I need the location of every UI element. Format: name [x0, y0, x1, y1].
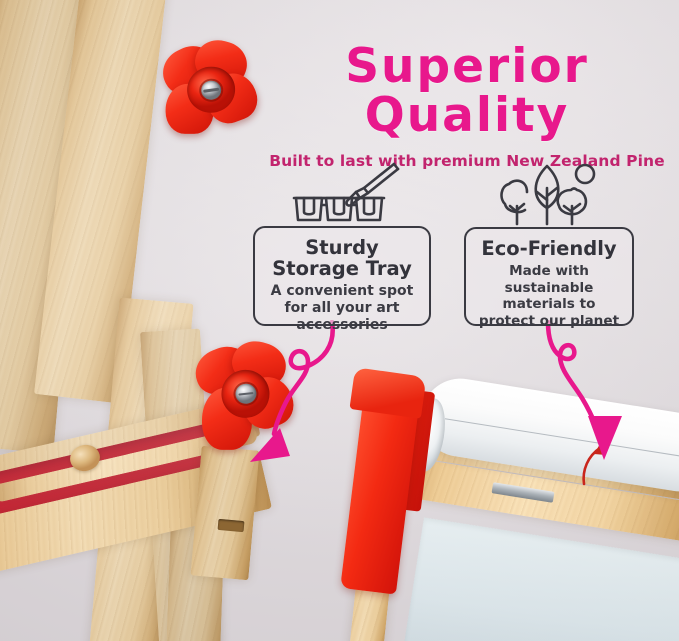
paint-tray-with-brush-icon — [282, 162, 402, 224]
feature-icon-wrap — [253, 162, 431, 224]
red-adjustment-knob-top[interactable] — [157, 37, 261, 141]
marketing-infographic: Superior Quality Built to last with prem… — [0, 0, 679, 641]
card-title: Eco-Friendly — [476, 238, 622, 259]
feature-icon-wrap — [464, 162, 634, 226]
pointer-arrow-eco-friendly — [534, 320, 654, 470]
storage-tray-card: Sturdy Storage Tray A convenient spot fo… — [253, 226, 431, 326]
card-description: Made with sustainable materials to prote… — [476, 263, 622, 329]
headline-block: Superior Quality Built to last with prem… — [262, 42, 672, 170]
trees-with-sun-icon — [493, 162, 605, 226]
eco-friendly-card: Eco-Friendly Made with sustainable mater… — [464, 227, 634, 326]
card-title: Sturdy Storage Tray — [265, 237, 419, 279]
storage-tray-mortise-slot — [218, 519, 245, 532]
page-title: Superior Quality — [262, 42, 672, 141]
pointer-arrow-storage-tray — [236, 320, 356, 470]
card-description: A convenient spot for all your art acces… — [265, 283, 419, 334]
